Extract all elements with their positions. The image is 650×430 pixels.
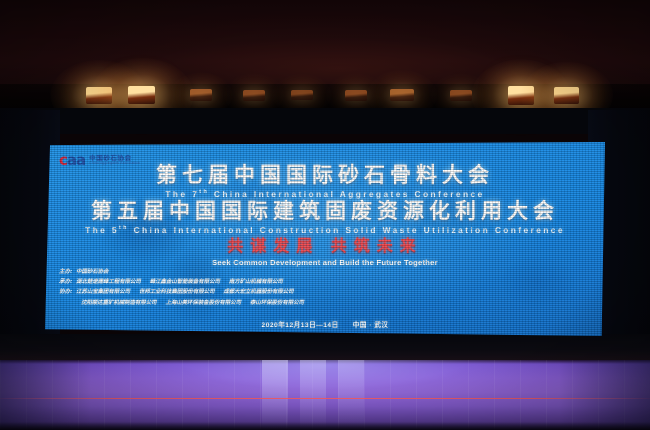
sponsor-role-label: 主办: xyxy=(59,267,72,275)
spotlight-fixture xyxy=(243,90,265,101)
spotlight-fixture xyxy=(554,87,579,104)
sponsor-role-label: 承办: xyxy=(59,277,72,285)
slogan-en: Seek Common Development and Build the Fu… xyxy=(45,258,605,267)
title-line2-en-post: China International Construction Solid W… xyxy=(134,225,565,235)
spotlight-6 xyxy=(345,90,367,101)
spotlight-fixture xyxy=(86,87,112,104)
conference-title-block: 第七届中国国际砂石骨料大会 The 7th China Internationa… xyxy=(45,164,605,236)
floor-front-shadow xyxy=(0,422,650,430)
spotlight-8 xyxy=(450,90,472,101)
sponsor-name: 峰江鑫金山智能装备有限公司 xyxy=(150,277,220,285)
sponsor-role-label: 协办: xyxy=(59,287,72,295)
sponsor-name: 中国砂石协会 xyxy=(76,267,108,275)
sponsor-row: 协办:江苏山宝集团有限公司世邦工业科技集团股份有限公司成都大宏立机器股份有限公司 xyxy=(59,287,304,295)
title-line1-en-sup: th xyxy=(199,189,209,195)
spotlight-9 xyxy=(508,86,534,105)
sponsor-name: 湖北楚速建峰工程有限公司 xyxy=(76,277,141,285)
spotlight-fixture xyxy=(345,90,367,101)
title-line1-en-post: China International Aggregates Conferenc… xyxy=(214,189,485,199)
sponsor-names: 江苏山宝集团有限公司世邦工业科技集团股份有限公司成都大宏立机器股份有限公司 xyxy=(76,287,294,295)
spotlight-7 xyxy=(390,89,414,101)
spotlight-3 xyxy=(190,89,212,101)
conference-date: 2020年12月13日—14日 xyxy=(262,322,339,329)
spotlight-fixture xyxy=(190,89,212,101)
conference-location: 中国 · 武汉 xyxy=(353,322,389,329)
spotlight-2 xyxy=(128,86,155,104)
stage-floor xyxy=(0,360,650,430)
sponsor-names: 中国砂石协会 xyxy=(76,267,108,275)
sponsor-name: 世邦工业科技集团股份有限公司 xyxy=(139,287,214,295)
title-line1-zh: 第七届中国国际砂石骨料大会 xyxy=(45,164,605,188)
led-video-wall: caa 中国砂石协会 China Aggregates Association … xyxy=(45,142,605,336)
spotlight-10 xyxy=(554,87,579,104)
spotlight-fixture xyxy=(390,89,414,101)
title-line2-zh: 第五届中国国际建筑固废资源化利用大会 xyxy=(45,200,605,224)
sponsor-name: 南方矿山机械有限公司 xyxy=(229,277,283,285)
sponsor-row: 承办:湖北楚速建峰工程有限公司峰江鑫金山智能装备有限公司南方矿山机械有限公司 xyxy=(59,277,304,285)
floor-plank-texture xyxy=(0,360,650,430)
title-line2-en-pre: The 5 xyxy=(85,225,119,235)
sponsor-row: 沈阳顺达重矿机械制造有限公司上海山美环保装备股份有限公司泰山环保股份有限公司 xyxy=(59,298,304,306)
spotlight-5 xyxy=(291,90,313,100)
wall-below-screen xyxy=(0,334,650,362)
title-line2-en: The 5th China International Construction… xyxy=(45,224,605,237)
auditorium-scene: caa 中国砂石协会 China Aggregates Association … xyxy=(0,0,650,430)
floor-red-laser-line xyxy=(0,398,650,399)
sponsor-name: 上海山美环保装备股份有限公司 xyxy=(165,298,240,306)
spotlight-fixture xyxy=(450,90,472,101)
wall-above-screen xyxy=(0,108,650,134)
spotlight-4 xyxy=(243,90,265,101)
conference-slogan-block: 共谋发展 共筑未来 Seek Common Development and Bu… xyxy=(45,238,605,267)
sponsor-name: 沈阳顺达重矿机械制造有限公司 xyxy=(81,298,156,306)
slogan-zh: 共谋发展 共筑未来 xyxy=(45,238,605,256)
spotlight-1 xyxy=(86,87,112,104)
title-line2-en-sup: th xyxy=(119,225,129,231)
sponsor-name: 泰山环保股份有限公司 xyxy=(250,298,304,306)
sponsor-names: 沈阳顺达重矿机械制造有限公司上海山美环保装备股份有限公司泰山环保股份有限公司 xyxy=(81,298,304,306)
title-line1-en-pre: The 7 xyxy=(165,189,199,199)
sponsor-names: 湖北楚速建峰工程有限公司峰江鑫金山智能装备有限公司南方矿山机械有限公司 xyxy=(76,277,283,285)
sponsor-list: 主办:中国砂石协会承办:湖北楚速建峰工程有限公司峰江鑫金山智能装备有限公司南方矿… xyxy=(59,267,304,308)
title-line1-en: The 7th China International Aggregates C… xyxy=(45,188,605,201)
sponsor-name: 成都大宏立机器股份有限公司 xyxy=(223,287,293,295)
sponsor-name: 江苏山宝集团有限公司 xyxy=(76,287,130,295)
date-location-bar: 2020年12月13日—14日中国 · 武汉 xyxy=(45,314,605,332)
sponsor-row: 主办:中国砂石协会 xyxy=(59,267,304,275)
spotlight-fixture xyxy=(291,90,313,100)
led-content: caa 中国砂石协会 China Aggregates Association … xyxy=(45,142,605,336)
spotlight-fixture xyxy=(508,86,534,105)
spotlight-fixture xyxy=(128,86,155,104)
